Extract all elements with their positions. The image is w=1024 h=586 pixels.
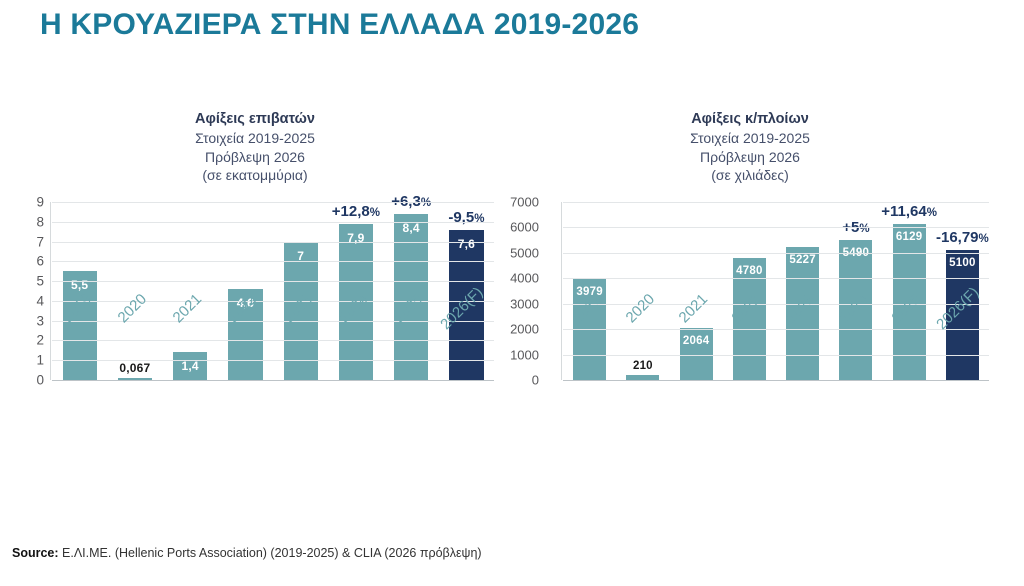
bar-value-label: 4780: [733, 265, 766, 277]
gridline: [52, 242, 494, 243]
x-axis-label: 2025: [391, 291, 427, 327]
gridline: [563, 202, 989, 203]
x-axis-label: 2023: [782, 291, 818, 327]
x-axis-label-slot: 2021: [670, 288, 723, 348]
x-axis-label-slot: 2021: [163, 288, 218, 348]
bar-value-label: 0,067: [118, 361, 152, 375]
gridline: [52, 202, 494, 203]
x-axis-label-slot: 2020: [616, 288, 669, 348]
y-axis-tick: 3: [36, 313, 44, 328]
x-axis-label-slot: 2025: [384, 288, 439, 348]
chart-subtitle-unit-ships: (σε χιλιάδες): [505, 166, 995, 184]
source-label: Source:: [12, 546, 59, 560]
x-axis-label: 2019: [59, 291, 95, 327]
x-axis-label: 2020: [622, 291, 658, 327]
x-axis-label: 2024: [335, 291, 371, 327]
y-axis-tick: 2: [36, 333, 44, 348]
y-axis-tick: 7000: [510, 195, 539, 210]
gridline: [563, 278, 989, 279]
growth-annotation-value: -9,5: [448, 209, 474, 226]
bar-value-label: 5227: [786, 254, 819, 266]
x-axis-label: 2025: [889, 291, 925, 327]
x-axis-label: 2026(F): [934, 284, 983, 333]
y-axis-tick: 6: [36, 254, 44, 269]
y-axis-line-ships: [561, 202, 562, 380]
x-axis-label-slot: 2019: [563, 288, 616, 348]
x-axis-label: 2026(F): [438, 284, 487, 333]
x-axis-label: 2021: [676, 291, 712, 327]
x-axis-label: 2021: [170, 291, 206, 327]
bar-value-label: 1,4: [173, 359, 207, 373]
percent-sign-icon: %: [859, 223, 869, 235]
bar-value-label: 8,4: [394, 221, 428, 235]
x-axis-label-slot: 2023: [273, 288, 328, 348]
bar-value-label: 6129: [893, 231, 926, 243]
x-axis-label: 2024: [835, 291, 871, 327]
y-axis-tick: 4000: [510, 271, 539, 286]
chart-header-ships: Αφίξεις κ/πλοίων Στοιχεία 2019-2025 Πρόβ…: [505, 110, 995, 185]
x-axis-label: 2023: [280, 291, 316, 327]
x-axis-label: 2020: [114, 291, 150, 327]
chart-subtitle-forecast-ships: Πρόβλεψη 2026: [505, 148, 995, 166]
growth-annotation: -9,5%: [425, 209, 508, 226]
bar-value-label: 5100: [946, 257, 979, 269]
chart-title-passengers: Αφίξεις επιβατών: [10, 110, 500, 129]
gridline: [52, 281, 494, 282]
x-axis-label-slot: 2022: [723, 288, 776, 348]
gridline: [563, 227, 989, 228]
chart-panel-passengers: Αφίξεις επιβατών Στοιχεία 2019-2025 Πρόβ…: [10, 110, 500, 460]
y-axis-tick: 0: [532, 373, 539, 388]
x-axis-label: 2022: [729, 291, 765, 327]
y-axis-tick: 2000: [510, 322, 539, 337]
y-axis-tick: 1000: [510, 347, 539, 362]
x-axis-label-slot: 2023: [776, 288, 829, 348]
x-axis-passengers: 20192020202120222023202420252026(F): [52, 288, 494, 348]
percent-sign-icon: %: [474, 213, 484, 225]
x-axis-label-slot: 2020: [107, 288, 162, 348]
y-axis-tick: 1: [36, 353, 44, 368]
gridline: [52, 222, 494, 223]
growth-annotation-value: +12,8: [332, 203, 370, 220]
x-axis-label-slot: 2024: [328, 288, 383, 348]
bar-value-label: 7,9: [339, 231, 373, 245]
bar-value-label: 210: [626, 360, 659, 372]
x-axis-label-slot: 2024: [829, 288, 882, 348]
x-axis-label: 2022: [225, 291, 261, 327]
gridline: [52, 261, 494, 262]
y-axis-line-passengers: [50, 202, 51, 380]
x-axis-label-slot: 2022: [218, 288, 273, 348]
bar-value-label: 7,6: [449, 237, 483, 251]
growth-annotation: -16,79%: [922, 229, 1003, 246]
chart-subtitle-data-years-passengers: Στοιχεία 2019-2025: [10, 129, 500, 147]
y-axis-tick: 0: [36, 373, 44, 388]
x-axis-label-slot: 2025: [883, 288, 936, 348]
growth-annotation-value: -16,79: [936, 229, 979, 246]
bar[interactable]: 1,4: [173, 352, 207, 380]
gridline: [563, 253, 989, 254]
y-axis-tick: 3000: [510, 296, 539, 311]
x-axis-label-slot: 2019: [52, 288, 107, 348]
y-axis-tick: 5: [36, 274, 44, 289]
chart-title-ships: Αφίξεις κ/πλοίων: [505, 110, 995, 129]
page-title: Η ΚΡΟΥΑΖΙΕΡΑ ΣΤΗΝ ΕΛΛΑΔΑ 2019-2026: [40, 8, 639, 42]
y-axis-tick: 5000: [510, 245, 539, 260]
x-axis-label: 2019: [569, 291, 605, 327]
axis-baseline: [563, 380, 989, 381]
y-axis-ships: 70006000500040003000200010000: [505, 202, 545, 380]
percent-sign-icon: %: [979, 233, 989, 245]
gridline: [563, 355, 989, 356]
y-axis-tick: 9: [36, 195, 44, 210]
x-axis-ships: 20192020202120222023202420252026(F): [563, 288, 989, 348]
chart-subtitle-data-years-ships: Στοιχεία 2019-2025: [505, 129, 995, 147]
source-text: Ε.ΛΙ.ΜΕ. (Hellenic Ports Association) (2…: [59, 546, 482, 560]
y-axis-passengers: 9876543210: [10, 202, 50, 380]
y-axis-tick: 8: [36, 214, 44, 229]
chart-subtitle-unit-passengers: (σε εκατομμύρια): [10, 166, 500, 184]
source-note: Source: Ε.ΛΙ.ΜΕ. (Hellenic Ports Associa…: [12, 546, 482, 560]
chart-panel-ships: Αφίξεις κ/πλοίων Στοιχεία 2019-2025 Πρόβ…: [505, 110, 995, 460]
y-axis-tick: 7: [36, 234, 44, 249]
gridline: [52, 360, 494, 361]
chart-subtitle-forecast-passengers: Πρόβλεψη 2026: [10, 148, 500, 166]
growth-annotation-value: +11,64: [881, 203, 926, 220]
chart-header-passengers: Αφίξεις επιβατών Στοιχεία 2019-2025 Πρόβ…: [10, 110, 500, 185]
y-axis-tick: 6000: [510, 220, 539, 235]
axis-baseline: [52, 380, 494, 381]
x-axis-label-slot: 2026(F): [936, 288, 989, 348]
x-axis-label-slot: 2026(F): [439, 288, 494, 348]
y-axis-tick: 4: [36, 293, 44, 308]
